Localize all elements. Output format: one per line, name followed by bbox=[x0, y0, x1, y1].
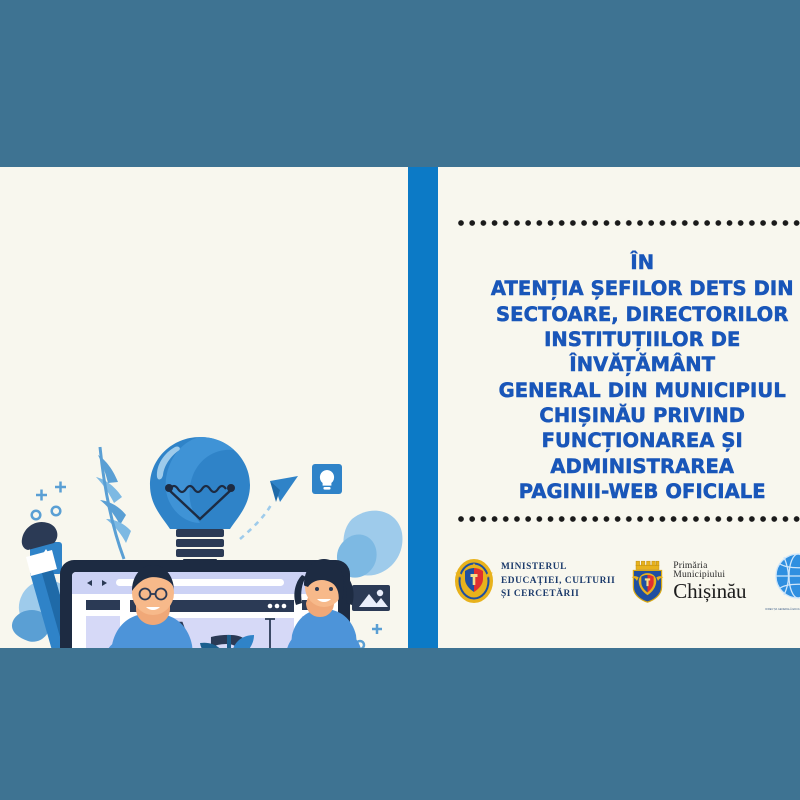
logo-city-hall: Primăria Municipiului Chișinău bbox=[629, 556, 751, 606]
headline-line-1: ÎN bbox=[456, 250, 800, 275]
headline-line-4: INSTITUȚIILOR DE bbox=[456, 327, 800, 352]
logo-strip: MINISTERUL EDUCAȚIEI, CULTURII ȘI CERCET… bbox=[452, 524, 800, 648]
logo-dgets: D G E T S DIRECȚIA GENERALĂ EDUCAȚIE, TI… bbox=[765, 552, 800, 611]
headline-line-5: ÎNVĂȚĂMÂNT bbox=[456, 352, 800, 377]
ministry-line-1: MINISTERUL bbox=[501, 561, 615, 574]
vertical-divider bbox=[408, 167, 438, 648]
headline-line-9: ADMINISTRAREA bbox=[456, 454, 800, 479]
headline-line-3: SECTOARE, DIRECTORILOR bbox=[456, 302, 800, 327]
illustration-panel: Aa bbox=[0, 167, 408, 648]
bulb-icon-tile bbox=[312, 464, 342, 494]
logo-ministry: MINISTERUL EDUCAȚIEI, CULTURII ȘI CERCET… bbox=[454, 558, 615, 604]
headline-line-7: CHIȘINĂU PRIVIND bbox=[456, 403, 800, 428]
chisinau-coat-of-arms bbox=[629, 556, 666, 606]
moldova-state-emblem bbox=[454, 558, 494, 604]
city-hall-name: Primăria Municipiului Chișinău bbox=[673, 561, 751, 602]
page-title: ÎN ATENȚIA ȘEFILOR DETS DIN SECTOARE, DI… bbox=[452, 250, 800, 504]
ministry-line-2: EDUCAȚIEI, CULTURII bbox=[501, 575, 615, 588]
headline-line-10: PAGINII-WEB OFICIALE bbox=[456, 479, 800, 504]
dgets-globe-logo: D G E T S bbox=[774, 552, 800, 600]
headline-line-2: ATENȚIA ȘEFILOR DETS DIN bbox=[456, 276, 800, 301]
web-design-illustration: Aa bbox=[0, 167, 408, 648]
ministry-line-3: ȘI CERCETĂRII bbox=[501, 588, 615, 601]
content-card: Aa bbox=[0, 167, 800, 648]
headline-line-8: FUNCȚIONAREA ȘI bbox=[456, 428, 800, 453]
headline-line-6: GENERAL DIN MUNICIPIUL bbox=[456, 378, 800, 403]
poster-root: Aa bbox=[0, 0, 800, 800]
text-panel: ÎN ATENȚIA ȘEFILOR DETS DIN SECTOARE, DI… bbox=[438, 167, 800, 648]
dotted-rule-top bbox=[458, 220, 800, 228]
city-hall-subtitle: Primăria Municipiului bbox=[673, 561, 751, 580]
ministry-name: MINISTERUL EDUCAȚIEI, CULTURII ȘI CERCET… bbox=[501, 561, 615, 601]
city-hall-title: Chișinău bbox=[673, 581, 751, 602]
dotted-rule-bottom bbox=[458, 516, 800, 524]
image-icon-tile bbox=[352, 585, 390, 611]
dgets-caption: DIRECȚIA GENERALĂ EDUCAȚIE, TINERET ȘI S… bbox=[765, 608, 800, 611]
